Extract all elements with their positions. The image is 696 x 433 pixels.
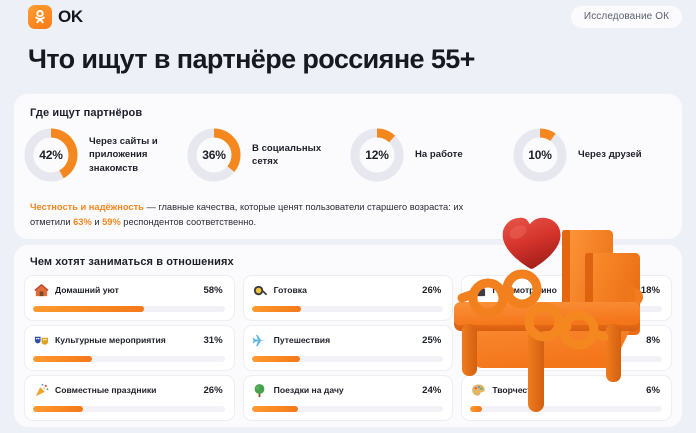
activity-grid: Домашний уют 58% Готовка 26% Просмотр ки…: [24, 275, 672, 421]
donut-label: Через сайты и приложения знакомств: [89, 135, 185, 175]
insight-paragraph: Честность и надёжность — главные качеств…: [30, 200, 500, 229]
tree-icon: [252, 382, 268, 398]
donut-label: Через друзей: [578, 148, 642, 161]
progress-bar-fill: [33, 356, 92, 362]
donut-item-3: 10% Через друзей: [511, 126, 674, 184]
activity-card[interactable]: Культурные мероприятия 31%: [24, 325, 235, 371]
activity-card[interactable]: Домашний уют 58%: [24, 275, 235, 321]
activity-label: Просмотр кино: [492, 285, 634, 295]
activity-percent: 6%: [646, 385, 662, 396]
progress-bar-track: [470, 306, 662, 312]
activity-label: Творчество: [492, 385, 640, 395]
activity-percent: 18%: [641, 285, 662, 296]
activity-card[interactable]: Просмотр кино 18%: [461, 275, 672, 321]
activity-label: Поездки на дачу: [274, 385, 416, 395]
activity-percent: 26%: [422, 285, 443, 296]
activity-card[interactable]: Активный отдых 8%: [461, 325, 672, 371]
progress-bar-track: [33, 406, 225, 412]
activity-row: Поездки на дачу 24%: [252, 382, 444, 398]
airplane-icon: [252, 332, 268, 348]
activity-percent: 24%: [422, 385, 443, 396]
donut-chart: 42%: [22, 126, 80, 184]
progress-bar-track: [33, 356, 225, 362]
donut-value: 10%: [511, 126, 569, 184]
activity-percent: 25%: [422, 335, 443, 346]
donut-value: 42%: [22, 126, 80, 184]
research-badge[interactable]: Исследование ОК: [571, 6, 682, 28]
progress-bar-track: [252, 406, 444, 412]
activity-percent: 26%: [203, 385, 224, 396]
donut-chart: 10%: [511, 126, 569, 184]
progress-bar-fill: [252, 406, 298, 412]
activity-label: Культурные мероприятия: [55, 335, 197, 345]
party-popper-icon: [33, 382, 49, 398]
progress-bar-fill: [252, 306, 302, 312]
activity-row: Культурные мероприятия 31%: [33, 332, 225, 348]
progress-bar-track: [252, 306, 444, 312]
donut-value: 36%: [185, 126, 243, 184]
donut-item-0: 42% Через сайты и приложения знакомств: [22, 126, 185, 184]
activity-percent: 8%: [646, 335, 662, 346]
brand-name: OK: [58, 7, 83, 27]
insight-highlight-pct-2: 59%: [102, 217, 121, 227]
activity-card[interactable]: Путешествия 25%: [243, 325, 454, 371]
activity-label: Домашний уют: [55, 285, 197, 295]
activity-card[interactable]: Совместные праздники 26%: [24, 375, 235, 421]
activities-section-card: Чем хотят заниматься в отношениях Домашн…: [14, 245, 682, 427]
donut-chart-group: 42% Через сайты и приложения знакомств 3…: [22, 126, 674, 184]
donut-chart: 36%: [185, 126, 243, 184]
donut-label: В социальных сетях: [252, 142, 348, 169]
insight-text-3: респондентов соответственно.: [121, 217, 256, 227]
progress-bar-track: [470, 406, 662, 412]
house-icon: [33, 282, 49, 298]
activity-row: Творчество 6%: [470, 382, 662, 398]
where-section-heading: Где ищут партнёров: [30, 107, 142, 119]
clapperboard-icon: [470, 282, 486, 298]
donut-value: 12%: [348, 126, 406, 184]
theater-masks-icon: [33, 332, 49, 348]
donut-chart: 12%: [348, 126, 406, 184]
progress-bar-fill: [470, 406, 482, 412]
progress-bar-fill: [33, 406, 83, 412]
donut-item-1: 36% В социальных сетях: [185, 126, 348, 184]
activity-row: Домашний уют 58%: [33, 282, 225, 298]
progress-bar-fill: [470, 356, 485, 362]
progress-bar-track: [252, 356, 444, 362]
progress-bar-track: [33, 306, 225, 312]
brand-logo[interactable]: OK: [28, 5, 83, 29]
page-header: OK Исследование ОК: [0, 0, 696, 40]
activity-label: Путешествия: [274, 335, 416, 345]
progress-bar-fill: [470, 306, 505, 312]
activity-card[interactable]: Готовка 26%: [243, 275, 454, 321]
activity-label: Активный отдых: [492, 335, 640, 345]
ok-logo-icon: [28, 5, 52, 29]
activity-percent: 31%: [203, 335, 224, 346]
ball-icon: [470, 332, 486, 348]
palette-icon: [470, 382, 486, 398]
donut-label: На работе: [415, 148, 463, 161]
activity-row: Активный отдых 8%: [470, 332, 662, 348]
insight-text-2: и: [92, 217, 102, 227]
activity-percent: 58%: [203, 285, 224, 296]
frying-pan-icon: [252, 282, 268, 298]
progress-bar-fill: [33, 306, 144, 312]
activity-row: Просмотр кино 18%: [470, 282, 662, 298]
activity-row: Совместные праздники 26%: [33, 382, 225, 398]
donut-item-2: 12% На работе: [348, 126, 511, 184]
activities-section-heading: Чем хотят заниматься в отношениях: [30, 256, 234, 268]
activity-row: Путешествия 25%: [252, 332, 444, 348]
insight-highlight-qualities: Честность и надёжность: [30, 202, 144, 212]
activity-card[interactable]: Поездки на дачу 24%: [243, 375, 454, 421]
activity-card[interactable]: Творчество 6%: [461, 375, 672, 421]
page-title: Что ищут в партнёре россияне 55+: [28, 44, 475, 75]
activity-row: Готовка 26%: [252, 282, 444, 298]
activity-label: Готовка: [274, 285, 416, 295]
progress-bar-fill: [252, 356, 300, 362]
activity-label: Совместные праздники: [55, 385, 197, 395]
insight-highlight-pct-1: 63%: [73, 217, 92, 227]
progress-bar-track: [470, 356, 662, 362]
